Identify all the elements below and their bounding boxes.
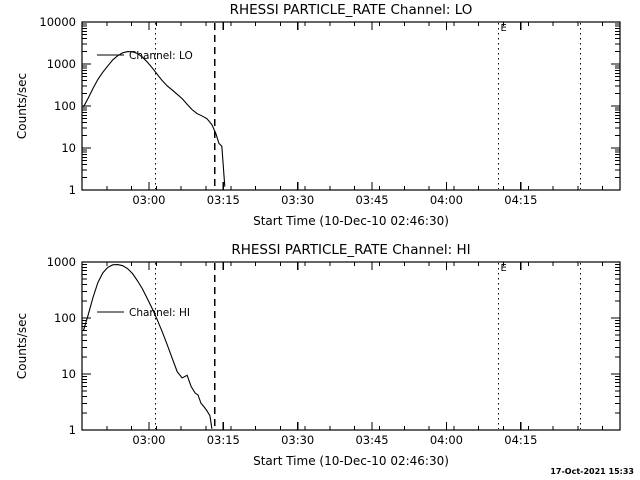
legend-label: Channel: HI (129, 307, 190, 319)
y-tick-label: 10 (61, 367, 76, 381)
x-tick-label: 03:00 (132, 433, 165, 447)
x-tick-label: 03:00 (132, 193, 165, 207)
x-tick-label: 03:45 (355, 433, 388, 447)
render-timestamp: 17-Oct-2021 15:33 (550, 467, 634, 476)
event-marker-label: E (501, 23, 507, 34)
y-tick-label: 100 (54, 99, 76, 113)
y-tick-label: 10 (61, 141, 76, 155)
y-tick-label: 10000 (39, 15, 76, 29)
plot-page: 10000100010010103:0003:1503:3003:4504:00… (0, 0, 640, 480)
x-tick-label: 03:15 (207, 433, 240, 447)
panel-channel-lo: 10000100010010103:0003:1503:3003:4504:00… (0, 0, 640, 240)
x-tick-label: 04:15 (504, 433, 537, 447)
panel-channel-hi: 100010010103:0003:1503:3003:4504:0004:15… (0, 240, 640, 480)
x-axis-label: Start Time (10-Dec-10 02:46:30) (253, 214, 449, 228)
x-tick-label: 04:00 (430, 433, 463, 447)
chart-title: RHESSI PARTICLE_RATE Channel: HI (231, 242, 470, 258)
x-axis-label: Start Time (10-Dec-10 02:46:30) (253, 454, 449, 468)
x-tick-label: 04:00 (430, 193, 463, 207)
y-tick-label: 1 (69, 183, 76, 197)
data-series-line (83, 265, 211, 429)
y-tick-label: 1000 (47, 57, 76, 71)
y-axis-label: Counts/sec (15, 313, 29, 379)
x-tick-label: 04:15 (504, 193, 537, 207)
chart-svg-hi: 100010010103:0003:1503:3003:4504:0004:15… (0, 240, 640, 480)
y-axis-label: Counts/sec (15, 73, 29, 139)
legend-label: Channel: LO (129, 50, 193, 62)
chart-svg-lo: 10000100010010103:0003:1503:3003:4504:00… (0, 0, 640, 240)
x-tick-label: 03:15 (207, 193, 240, 207)
y-tick-label: 100 (54, 311, 76, 325)
data-series-line (83, 52, 224, 187)
event-marker-label: E (501, 263, 507, 274)
x-tick-label: 03:30 (281, 193, 314, 207)
y-tick-label: 1000 (47, 255, 76, 269)
chart-title: RHESSI PARTICLE_RATE Channel: LO (230, 2, 473, 18)
x-tick-label: 03:45 (355, 193, 388, 207)
y-tick-label: 1 (69, 423, 76, 437)
x-tick-label: 03:30 (281, 433, 314, 447)
